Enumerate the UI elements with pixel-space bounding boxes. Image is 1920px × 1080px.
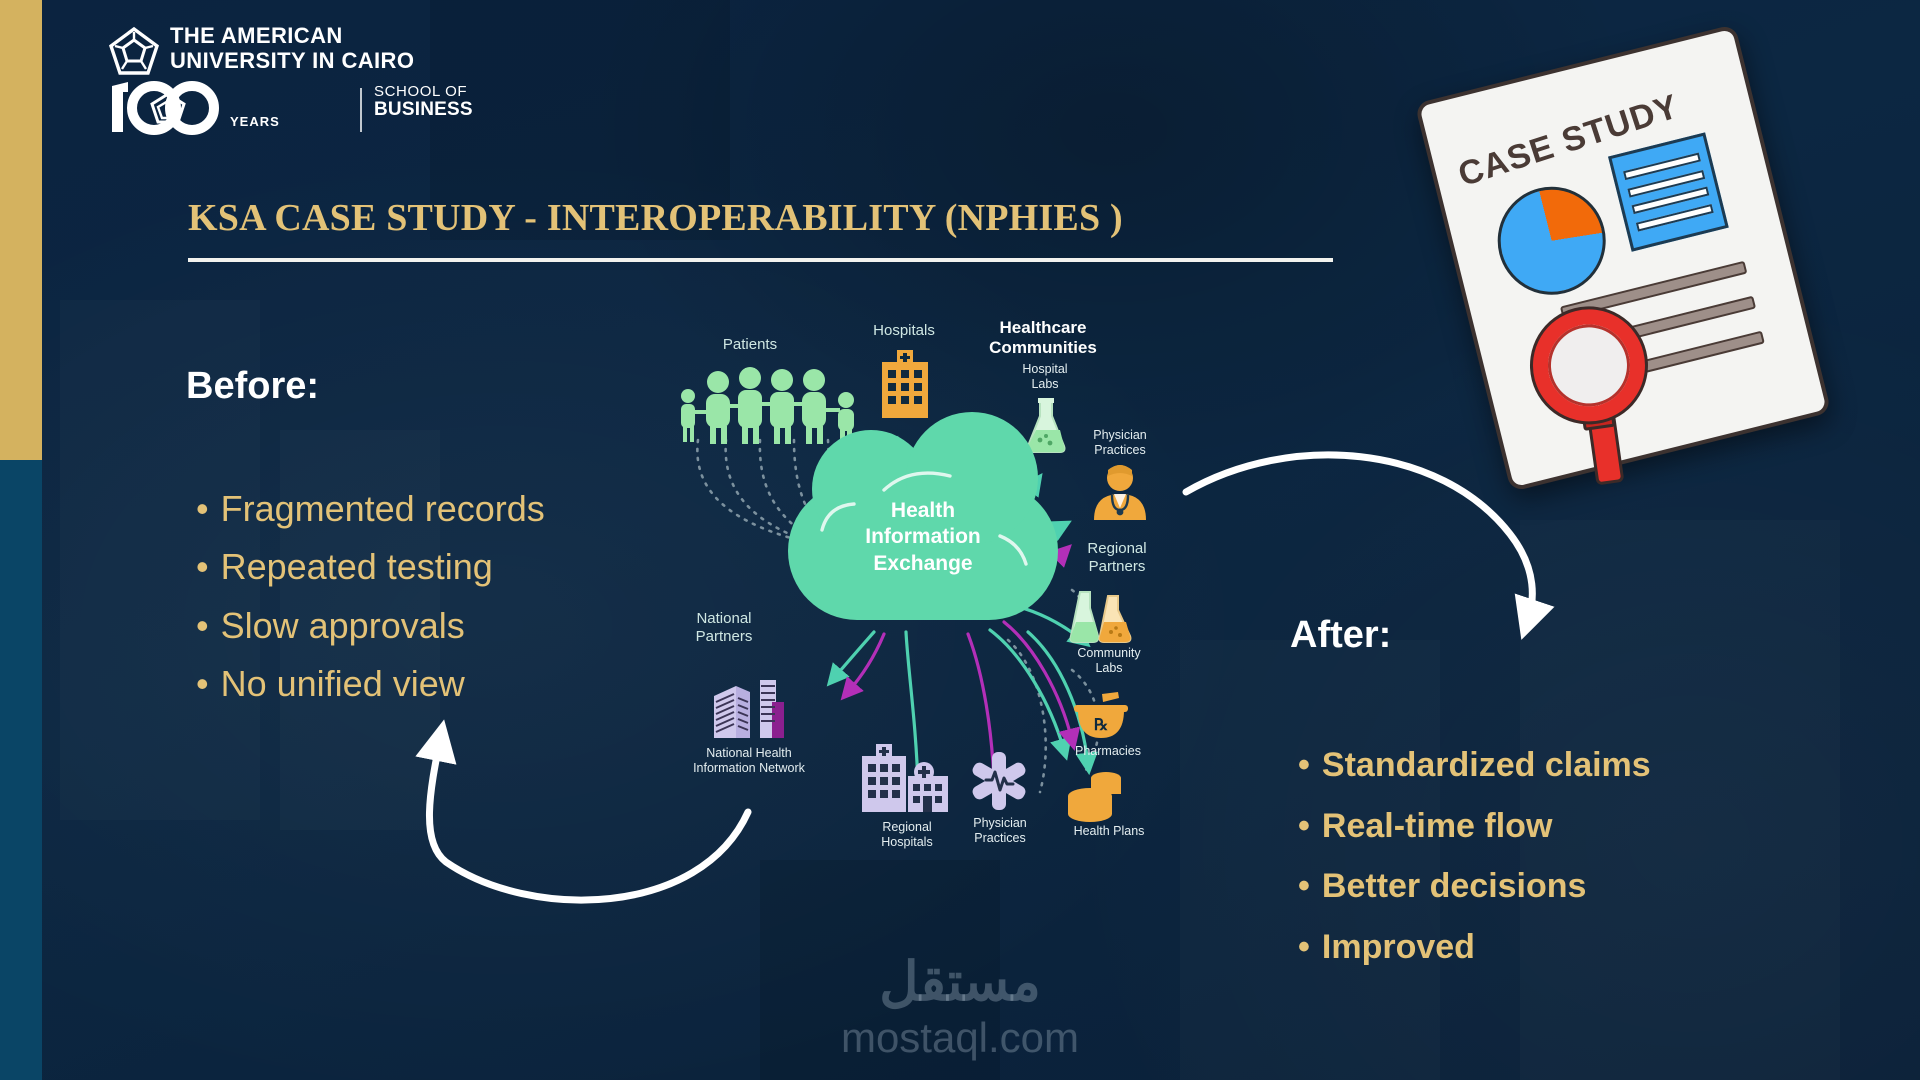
- physician-practices-star-of-life-icon: [968, 750, 1030, 812]
- svg-text:℞: ℞: [1094, 717, 1108, 734]
- slide-canvas: THE AMERICAN UNIVERSITY IN CAIRO YEARS S…: [0, 0, 1920, 1080]
- label-physician-practices-top: Physician Practices: [1064, 428, 1176, 458]
- after-heading: After:: [1290, 614, 1391, 657]
- label-regional-partners: Regional Partners: [1054, 540, 1180, 576]
- list-item: •No unified view: [196, 655, 666, 713]
- before-item-2: Slow approvals: [221, 605, 465, 646]
- list-item: •Better decisions: [1298, 856, 1818, 917]
- list-item: •Slow approvals: [196, 597, 666, 655]
- bullet-glyph: •: [196, 605, 209, 646]
- nhin-line2: Information Network: [693, 761, 805, 775]
- healthcare-communities-line1: Healthcare: [1000, 318, 1087, 337]
- nhin-line1: National Health: [706, 746, 791, 760]
- hie-label-line3: Exchange: [873, 552, 972, 575]
- community-labs-line2: Labs: [1095, 661, 1122, 675]
- title-underline: [188, 258, 1333, 262]
- arrow-to-after-list: [1186, 455, 1532, 620]
- label-community-labs: Community Labs: [1054, 646, 1164, 676]
- community-labs-icon: [1066, 590, 1138, 644]
- case-study-card: CASE STUDY: [1415, 24, 1832, 492]
- bullet-glyph: •: [1298, 867, 1310, 905]
- physician-practices-top-line2: Practices: [1094, 443, 1145, 457]
- before-item-0: Fragmented records: [221, 488, 545, 529]
- physician-practices-bottom-line1: Physician: [973, 816, 1027, 830]
- hospital-building-icon: [874, 348, 936, 420]
- label-national-partners: National Partners: [654, 610, 794, 646]
- bullet-glyph: •: [1298, 807, 1310, 845]
- label-patients: Patients: [690, 336, 810, 354]
- watermark-latin: mostaql.com: [0, 1013, 1920, 1063]
- regional-partners-line2: Partners: [1089, 558, 1146, 575]
- label-physician-practices-bottom: Physician Practices: [944, 816, 1056, 846]
- hie-label-line1: Health: [891, 499, 955, 522]
- label-hospital-labs: Hospital Labs: [990, 362, 1100, 392]
- health-plans-icon: [1064, 768, 1128, 822]
- regional-hospitals-line1: Regional: [882, 820, 931, 834]
- auc-pentagon-icon: [108, 26, 160, 78]
- label-nhin: National Health Information Network: [664, 746, 834, 776]
- after-bullet-list: •Standardized claims •Real-time flow •Be…: [1298, 735, 1818, 977]
- list-item: •Real-time flow: [1298, 796, 1818, 857]
- bullet-glyph: •: [1298, 746, 1310, 784]
- page-title: KSA CASE STUDY - INTEROPERABILITY (NPHIE…: [188, 196, 1123, 240]
- list-item: •Fragmented records: [196, 480, 666, 538]
- regional-partners-line1: Regional: [1087, 540, 1146, 557]
- centennial-years-label: YEARS: [230, 114, 280, 129]
- community-labs-line1: Community: [1077, 646, 1140, 660]
- hospital-labs-line2: Labs: [1031, 377, 1058, 391]
- case-study-paper: [1415, 24, 1832, 492]
- watermark-arabic: مستقل: [0, 955, 1920, 1009]
- bullet-glyph: •: [196, 663, 209, 704]
- label-pharmacies: Pharmacies: [1060, 744, 1156, 759]
- auc-wordmark: THE AMERICAN UNIVERSITY IN CAIRO: [170, 24, 414, 73]
- physician-icon: [1088, 464, 1152, 522]
- auc-wordmark-line2: UNIVERSITY IN CAIRO: [170, 49, 414, 74]
- healthcare-communities-line2: Communities: [989, 338, 1097, 357]
- national-health-network-icon: [710, 672, 788, 740]
- school-line-1: SCHOOL OF: [374, 84, 473, 100]
- school-of-business-lockup: SCHOOL OF BUSINESS: [374, 84, 473, 121]
- list-item: •Repeated testing: [196, 538, 666, 596]
- logo-divider: [360, 88, 362, 132]
- hospital-labs-line1: Hospital: [1022, 362, 1067, 376]
- regional-hospitals-line2: Hospitals: [881, 835, 932, 849]
- label-health-plans: Health Plans: [1054, 824, 1164, 839]
- after-item-1: Real-time flow: [1322, 807, 1552, 845]
- list-item: •Standardized claims: [1298, 735, 1818, 796]
- auc-wordmark-line1: THE AMERICAN: [170, 24, 414, 49]
- after-item-2: Better decisions: [1322, 867, 1587, 905]
- physician-practices-bottom-line2: Practices: [974, 831, 1025, 845]
- hie-center-label: Health Information Exchange: [788, 498, 1058, 577]
- left-accent-bar-gold: [0, 0, 42, 460]
- after-item-0: Standardized claims: [1322, 746, 1651, 784]
- before-item-3: No unified view: [221, 663, 465, 704]
- school-line-2: BUSINESS: [374, 100, 473, 121]
- before-bullet-list: •Fragmented records •Repeated testing •S…: [196, 480, 666, 713]
- national-partners-line2: Partners: [696, 628, 753, 645]
- regional-hospitals-icon: [856, 742, 952, 814]
- national-partners-line1: National: [696, 610, 751, 627]
- auc-logo: THE AMERICAN UNIVERSITY IN CAIRO YEARS S…: [108, 22, 448, 132]
- physician-practices-top-line1: Physician: [1093, 428, 1147, 442]
- hie-label-line2: Information: [865, 525, 981, 548]
- before-heading: Before:: [186, 365, 319, 408]
- label-hospitals: Hospitals: [854, 322, 954, 340]
- bullet-glyph: •: [196, 488, 209, 529]
- before-item-1: Repeated testing: [221, 546, 493, 587]
- label-healthcare-communities: Healthcare Communities: [968, 318, 1118, 359]
- bullet-glyph: •: [196, 546, 209, 587]
- pharmacy-mortar-icon: ℞: [1072, 690, 1130, 742]
- health-information-exchange-diagram: Patients Hospitals: [668, 340, 1188, 870]
- mostaql-watermark: مستقل mostaql.com: [0, 955, 1920, 1063]
